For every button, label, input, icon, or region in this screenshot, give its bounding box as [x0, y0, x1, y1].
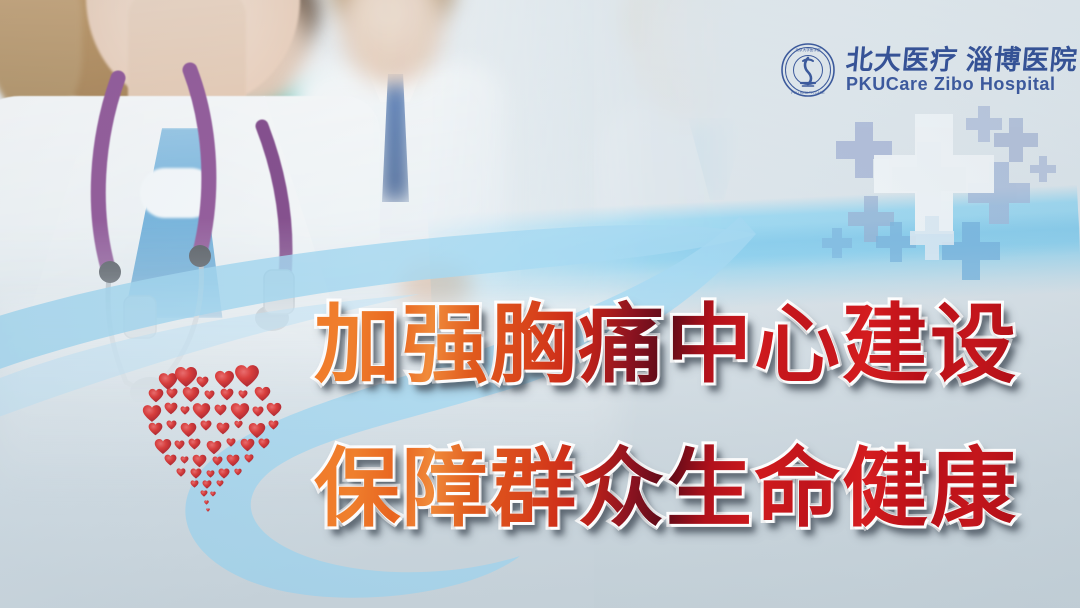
svg-text:北京大学医学部: 北京大学医学部	[795, 47, 821, 52]
hospital-seal-icon: 北京大学医学部 PKU HEALTH CARE	[780, 42, 836, 98]
headline-line-1: 加强胸痛中心建设 加强胸痛中心建设 加强胸痛中心建设	[314, 286, 1014, 404]
headline-line-2: 保障群众生命健康 保障群众生命健康 保障群众生命健康	[314, 430, 1014, 548]
logo-english-name: PKUCare Zibo Hospital	[846, 75, 1078, 94]
cross-icon	[822, 228, 852, 258]
hospital-logo[interactable]: 北京大学医学部 PKU HEALTH CARE 北大医疗 淄博医院 PKUCar…	[780, 38, 1032, 102]
poster-canvas: 北京大学医学部 PKU HEALTH CARE 北大医疗 淄博医院 PKUCar…	[0, 0, 1080, 608]
headline-block: 加强胸痛中心建设 加强胸痛中心建设 加强胸痛中心建设 保障群众生命健康 保障群众…	[314, 286, 1014, 548]
headline-line-2-text: 保障群众生命健康	[314, 441, 1018, 537]
cross-icon	[910, 216, 954, 260]
cross-icon	[1030, 156, 1056, 182]
headline-line-1-text: 加强胸痛中心建设	[314, 297, 1018, 393]
logo-text-block: 北大医疗 淄博医院 PKUCare Zibo Hospital	[846, 46, 1078, 94]
heart-of-hearts-icon	[128, 358, 296, 518]
logo-chinese-name: 北大医疗 淄博医院	[845, 46, 1079, 74]
svg-text:PKU HEALTH CARE: PKU HEALTH CARE	[791, 91, 825, 95]
medical-cross-cluster	[818, 104, 1080, 294]
